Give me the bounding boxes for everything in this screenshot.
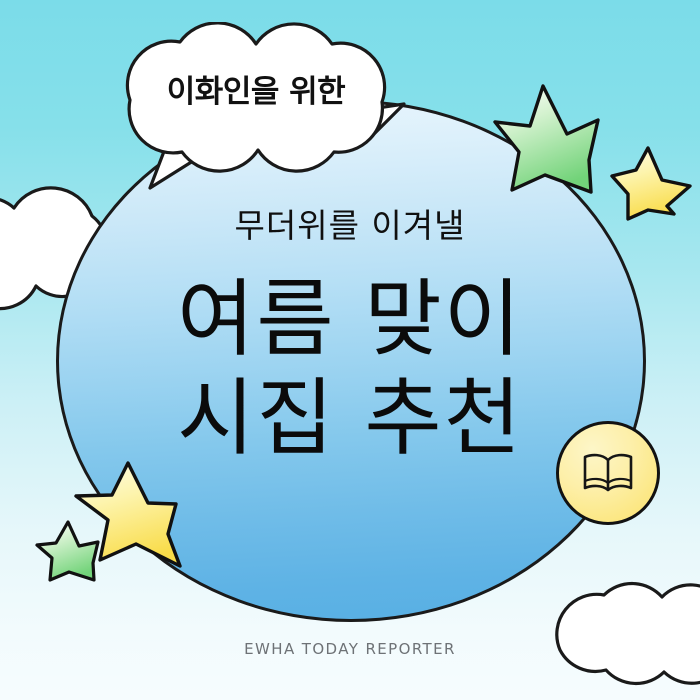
poster-canvas: 이화인을 위한 무더위를 이겨낼 여름 맞이 시집 추천 EWHA TODAY …	[0, 0, 700, 700]
headline-title-line-1: 여름 맞이	[0, 270, 700, 369]
headline-title-line-2: 시집 추천	[0, 369, 700, 468]
headline-block: 무더위를 이겨낼 여름 맞이 시집 추천	[0, 205, 700, 468]
text-layer: 무더위를 이겨낼 여름 맞이 시집 추천 EWHA TODAY REPORTER	[0, 0, 700, 700]
headline-subtitle: 무더위를 이겨낼	[0, 205, 700, 246]
footer-credit: EWHA TODAY REPORTER	[0, 640, 700, 658]
headline-title: 여름 맞이 시집 추천	[0, 270, 700, 468]
